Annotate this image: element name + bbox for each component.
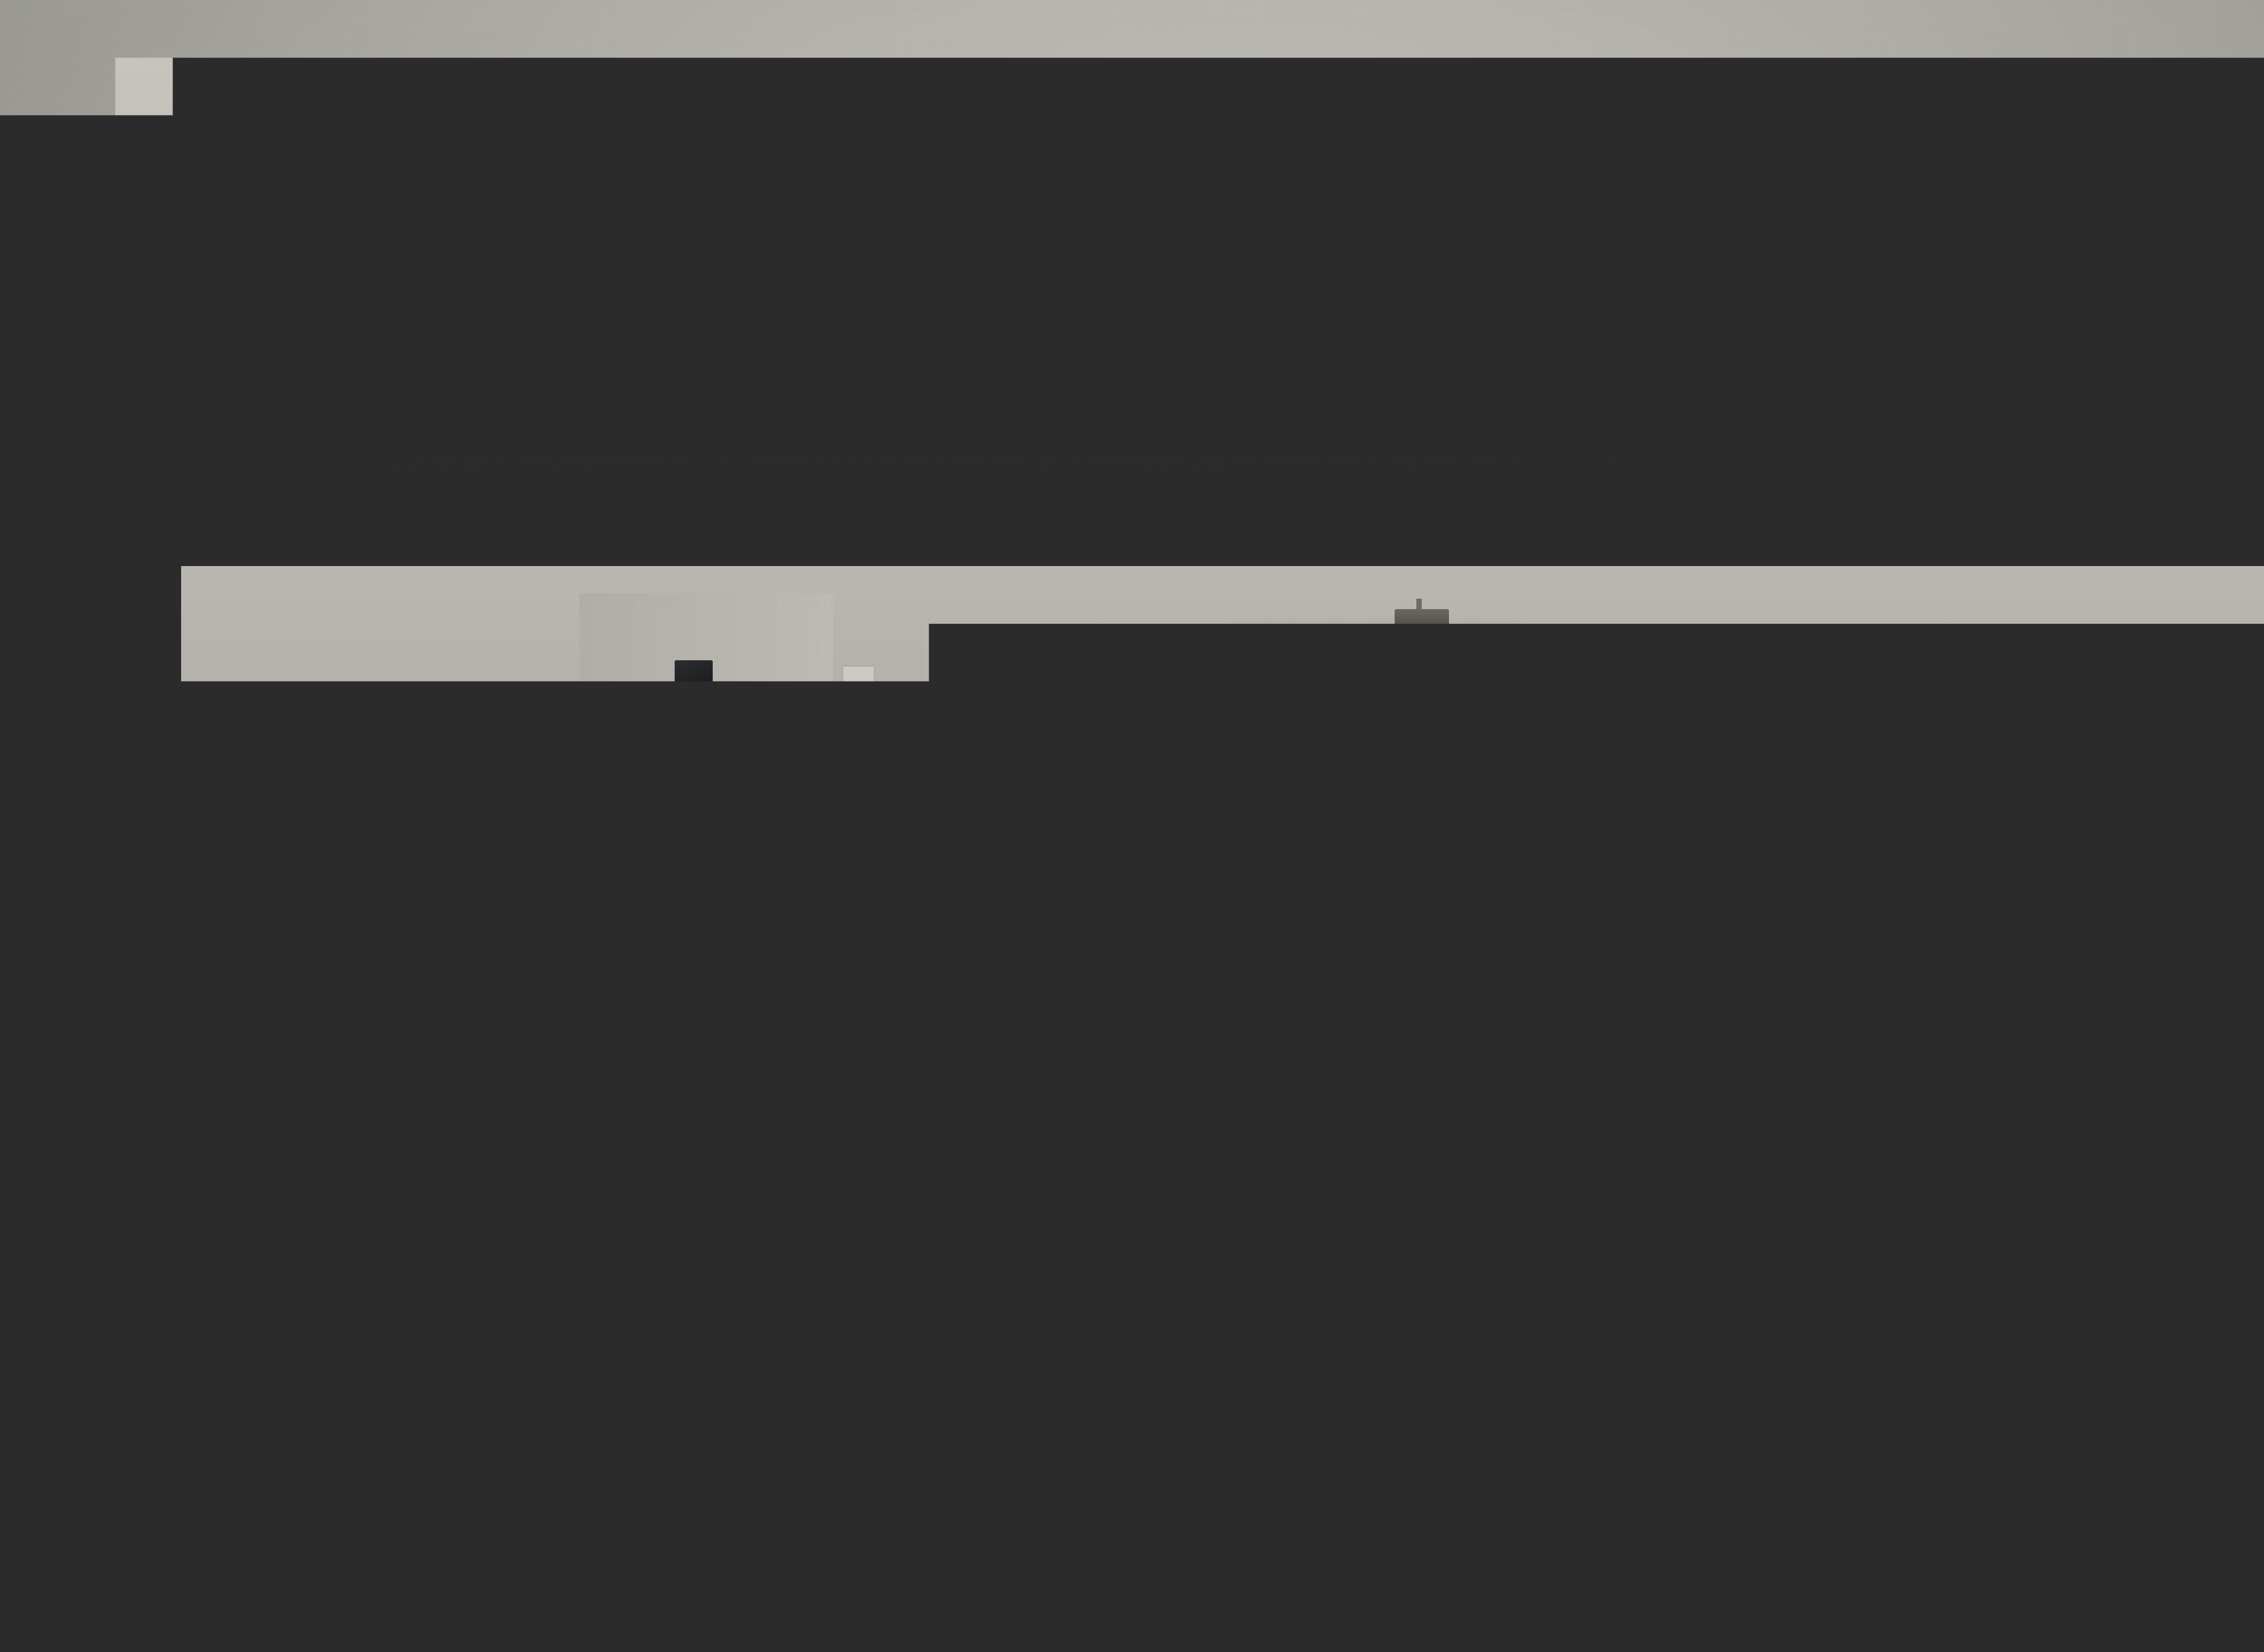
midground-person — [281, 1146, 444, 1345]
person-body — [1014, 1198, 1168, 1309]
person-ear — [353, 1345, 392, 1396]
midground-person — [1467, 1109, 1621, 1300]
person-head — [1056, 1119, 1127, 1210]
person-body — [512, 1219, 666, 1331]
person-body — [1467, 1189, 1621, 1300]
person-head — [553, 1137, 624, 1230]
lecture-hall-photo: 一、习近平系列讲话精神 （一）两个一百年 两个百年 实现中华民族伟大复兴的中国梦… — [0, 0, 2264, 1652]
person-body — [1675, 1172, 1820, 1277]
midground-person — [783, 1119, 933, 1309]
person-body — [2092, 1046, 2264, 1377]
midground-person — [1675, 1096, 1820, 1277]
person-ear — [1878, 1145, 1923, 1202]
person-body — [281, 1229, 444, 1345]
person-ear — [2195, 977, 2231, 1023]
person-head — [1290, 1105, 1359, 1194]
midground-person — [1250, 1105, 1399, 1291]
person-head — [824, 1119, 892, 1210]
foreground-person-far-right — [2092, 888, 2264, 1377]
person-head — [1714, 1096, 1781, 1183]
person-head — [1509, 1109, 1579, 1201]
midground-person — [512, 1137, 666, 1331]
midground-person — [1014, 1119, 1168, 1309]
foreground-audience — [0, 0, 2264, 1652]
person-head — [325, 1146, 400, 1241]
person-body — [1250, 1183, 1399, 1291]
person-body — [783, 1198, 933, 1309]
